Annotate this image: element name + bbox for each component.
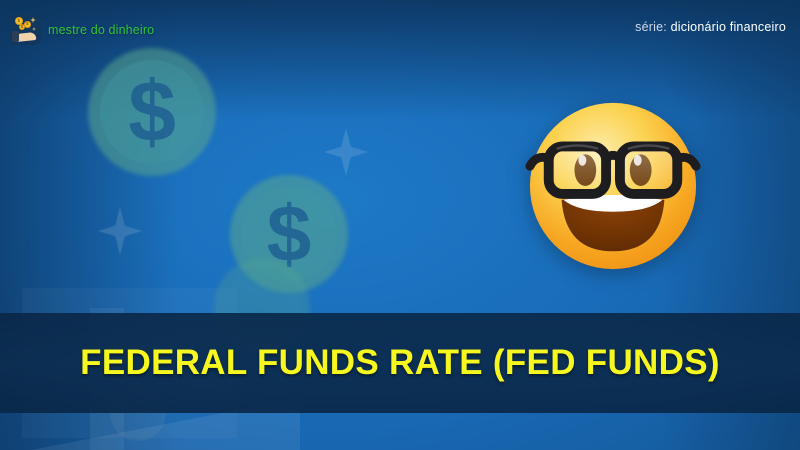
nerd-face-emoji	[524, 97, 702, 275]
logo-sparkle-icon	[32, 27, 36, 31]
series-key-text: série:	[635, 20, 667, 34]
logo-wrist-shape	[12, 31, 19, 42]
page-title: FEDERAL FUNDS RATE (FED FUNDS)	[80, 343, 720, 383]
logo-coin-icon: $	[19, 24, 25, 30]
dollar-sign-icon: $	[128, 69, 176, 155]
series-value-text: dicionário financeiro	[671, 20, 786, 34]
dollar-coin-icon: $	[88, 48, 216, 176]
brand-logo[interactable]: $ $ $ mestre do dinheiro	[10, 14, 154, 45]
hand-with-coins-icon: $ $ $	[10, 14, 41, 45]
brand-name-text: mestre do dinheiro	[48, 23, 154, 37]
series-label: série: dicionário financeiro	[635, 20, 786, 34]
slide-canvas: $ $ $ $ $ mestre do dinheiro série: dici…	[0, 0, 800, 450]
title-band: FEDERAL FUNDS RATE (FED FUNDS)	[0, 313, 800, 413]
logo-sparkle-icon	[30, 17, 36, 23]
